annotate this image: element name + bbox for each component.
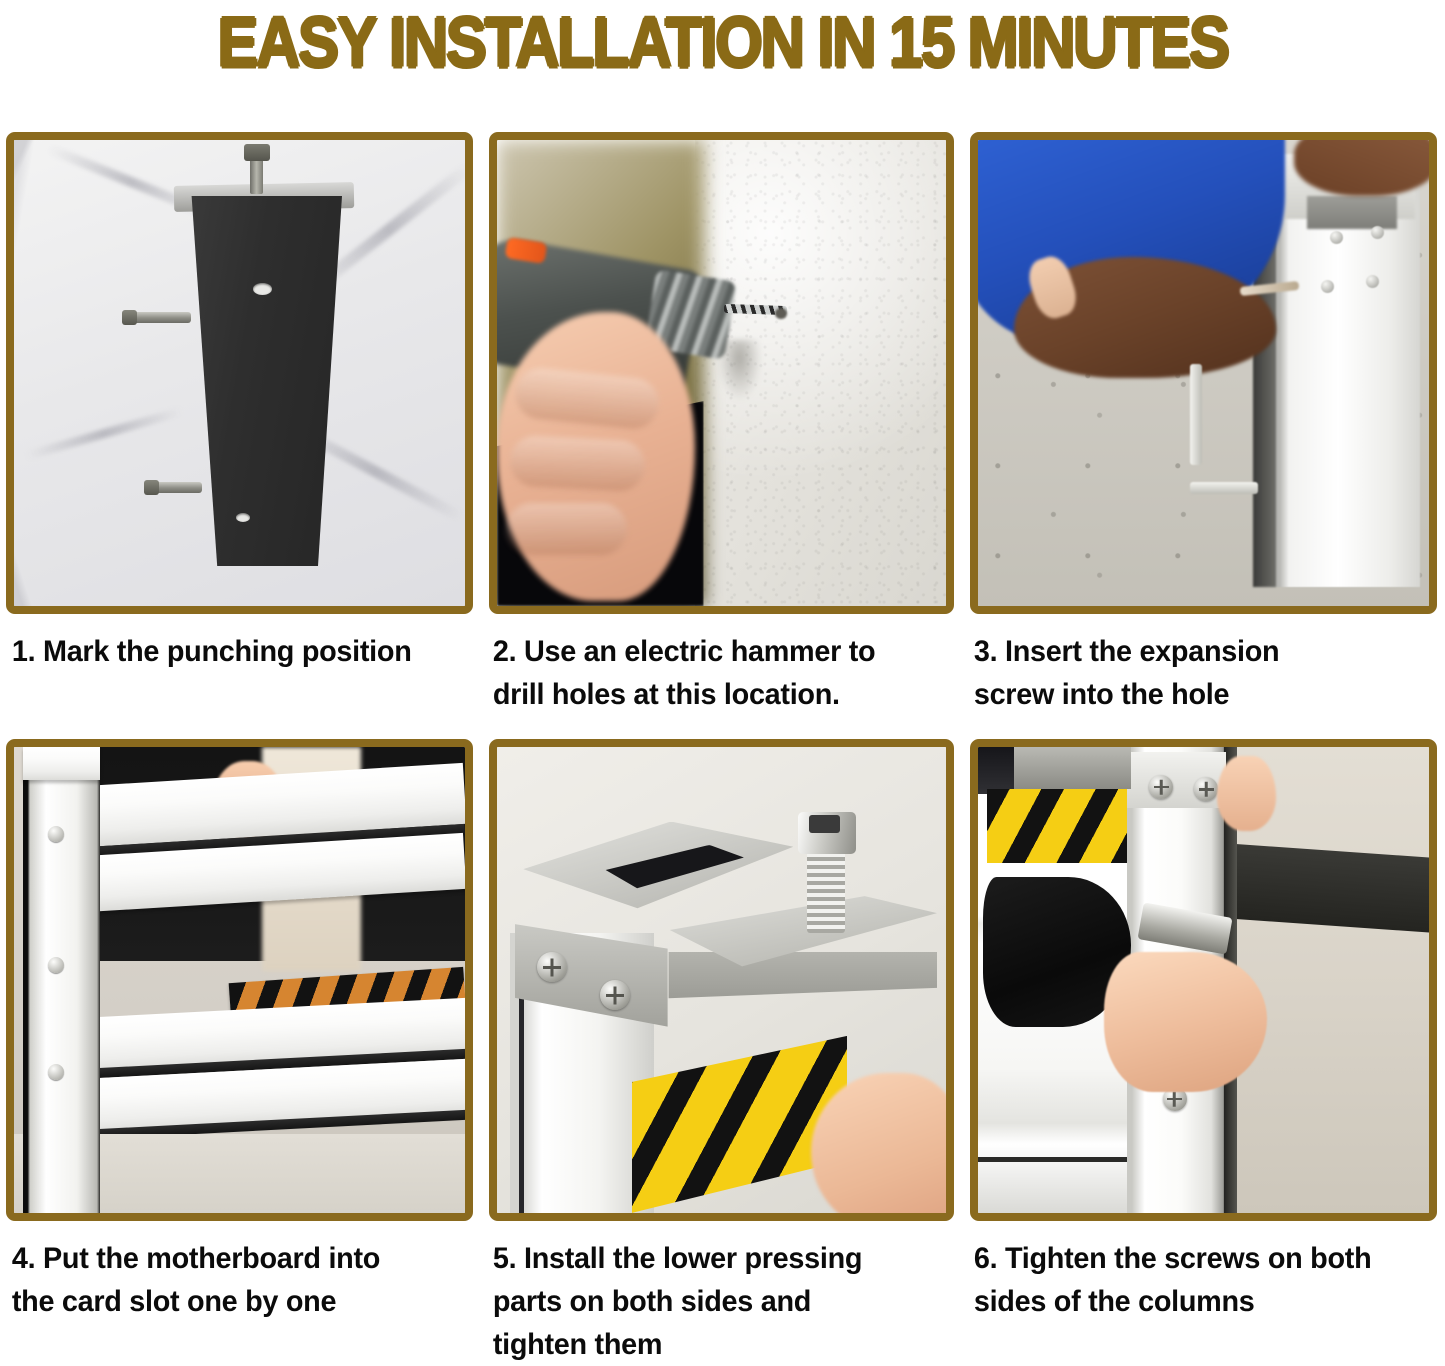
step-cell-2 bbox=[481, 132, 962, 614]
column-screw bbox=[48, 1064, 64, 1080]
steps-row-top bbox=[0, 132, 1445, 614]
captions-row-bottom: 4. Put the motherboard into the card slo… bbox=[0, 1221, 1445, 1346]
second-hand bbox=[1217, 756, 1276, 831]
step-caption-5: 5. Install the lower pressing parts on b… bbox=[489, 1237, 935, 1366]
step-photo-3 bbox=[978, 140, 1429, 606]
step-photo-frame-5 bbox=[489, 739, 954, 1221]
column-screw bbox=[48, 957, 64, 973]
column-mounting-plate bbox=[1307, 196, 1397, 229]
hand-tightening-screw bbox=[1104, 952, 1266, 1092]
step-photo-frame-3 bbox=[970, 132, 1437, 614]
caption-cell-2: 2. Use an electric hammer to drill holes… bbox=[481, 614, 962, 739]
steps-grid: 1. Mark the punching position 2. Use an … bbox=[0, 132, 1445, 1346]
column-screw bbox=[48, 826, 64, 842]
caption-cell-1: 1. Mark the punching position bbox=[0, 614, 481, 739]
page-title: EASY INSTALLATION IN 15 MINUTES bbox=[217, 6, 1227, 80]
white-column-with-slot bbox=[23, 747, 100, 1213]
rod-nut bbox=[244, 144, 270, 161]
step-photo-frame-1 bbox=[6, 132, 473, 614]
top-metal-bracket bbox=[1014, 747, 1131, 789]
panel-seam bbox=[978, 1157, 1131, 1162]
steps-row-bottom bbox=[0, 739, 1445, 1221]
captions-row-top: 1. Mark the punching position 2. Use an … bbox=[0, 614, 1445, 739]
step-cell-6 bbox=[962, 739, 1443, 1221]
step-photo-4 bbox=[14, 747, 465, 1213]
thumb-bolt-socket bbox=[809, 815, 840, 834]
step-cell-3 bbox=[962, 132, 1443, 614]
page-title-bar: EASY INSTALLATION IN 15 MINUTES bbox=[0, 0, 1445, 86]
hazard-stripe-board bbox=[987, 789, 1127, 864]
bolt-stud-upper bbox=[129, 312, 191, 323]
step-cell-1 bbox=[0, 132, 481, 614]
allen-key-short-arm bbox=[1190, 482, 1258, 494]
caption-cell-6: 6. Tighten the screws on both sides of t… bbox=[962, 1221, 1443, 1346]
caption-cell-5: 5. Install the lower pressing parts on b… bbox=[481, 1221, 962, 1346]
step-caption-2: 2. Use an electric hammer to drill holes… bbox=[489, 630, 935, 716]
step-cell-5 bbox=[481, 739, 962, 1221]
step-photo-6 bbox=[978, 747, 1429, 1213]
step-caption-1: 1. Mark the punching position bbox=[8, 630, 454, 673]
step-caption-4: 4. Put the motherboard into the card slo… bbox=[8, 1237, 454, 1323]
allen-key bbox=[1190, 364, 1258, 494]
bolt-stud-cap-upper bbox=[122, 310, 137, 325]
post-hole-upper bbox=[253, 283, 272, 295]
step-photo-frame-4 bbox=[6, 739, 473, 1221]
caption-cell-4: 4. Put the motherboard into the card slo… bbox=[0, 1221, 481, 1346]
step-caption-6: 6. Tighten the screws on both sides of t… bbox=[970, 1237, 1416, 1323]
step-cell-4 bbox=[0, 739, 481, 1221]
step-photo-frame-6 bbox=[970, 739, 1437, 1221]
wall-baseboard bbox=[1213, 842, 1429, 932]
step-photo-frame-2 bbox=[489, 132, 954, 614]
post-hole-lower bbox=[236, 513, 250, 522]
step-photo-1 bbox=[14, 140, 465, 606]
column-top-cap bbox=[23, 747, 100, 780]
step-photo-5 bbox=[497, 747, 946, 1213]
finger bbox=[509, 435, 646, 493]
installation-guide-page: EASY INSTALLATION IN 15 MINUTES bbox=[0, 0, 1445, 1352]
step-caption-3: 3. Insert the expansion screw into the h… bbox=[970, 630, 1416, 716]
finger bbox=[506, 503, 627, 554]
step-photo-2 bbox=[497, 140, 946, 606]
allen-key-long-arm bbox=[1190, 364, 1202, 466]
thumb-bolt-shaft bbox=[807, 845, 845, 934]
drill-dust bbox=[717, 340, 762, 401]
caption-cell-3: 3. Insert the expansion screw into the h… bbox=[962, 614, 1443, 739]
bolt-stud-cap-lower bbox=[144, 480, 159, 495]
